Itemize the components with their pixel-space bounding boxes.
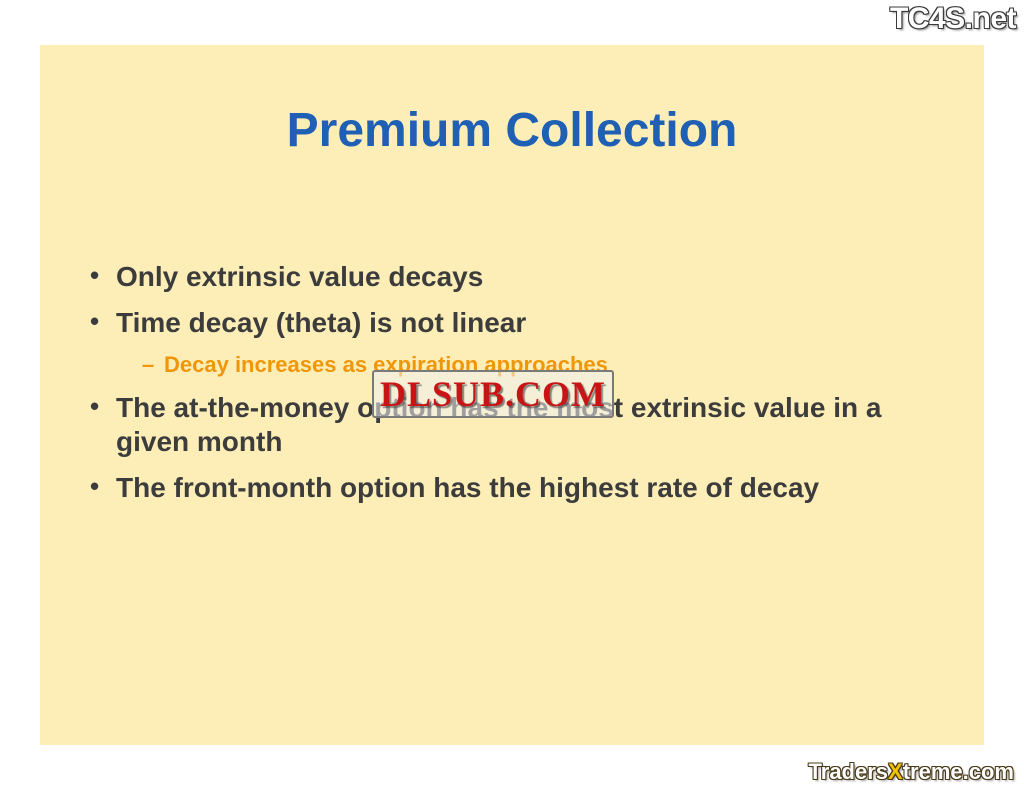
brand-suffix: treme.com (903, 759, 1014, 784)
center-watermark-stamp: DLSUB.COM (372, 370, 614, 418)
bullet-item: • Only extrinsic value decays (90, 260, 950, 294)
bullet-item: • The front-month option has the highest… (90, 471, 950, 505)
sub-bullet-marker-icon: – (142, 352, 164, 378)
bullet-text: Only extrinsic value decays (116, 260, 950, 294)
bullet-marker-icon: • (90, 306, 116, 338)
bullet-marker-icon: • (90, 391, 116, 423)
bullet-item: • Time decay (theta) is not linear (90, 306, 950, 340)
bullet-text: Time decay (theta) is not linear (116, 306, 950, 340)
bullet-text: The front-month option has the highest r… (116, 471, 950, 505)
site-watermark-bottom: TradersXtreme.com (809, 759, 1014, 785)
brand-prefix: Traders (809, 759, 889, 784)
bullet-marker-icon: • (90, 260, 116, 292)
site-watermark-top: TC4S.net (890, 2, 1016, 36)
slide-title: Premium Collection (40, 103, 984, 158)
bullet-marker-icon: • (90, 471, 116, 503)
brand-highlight: X (888, 759, 903, 784)
